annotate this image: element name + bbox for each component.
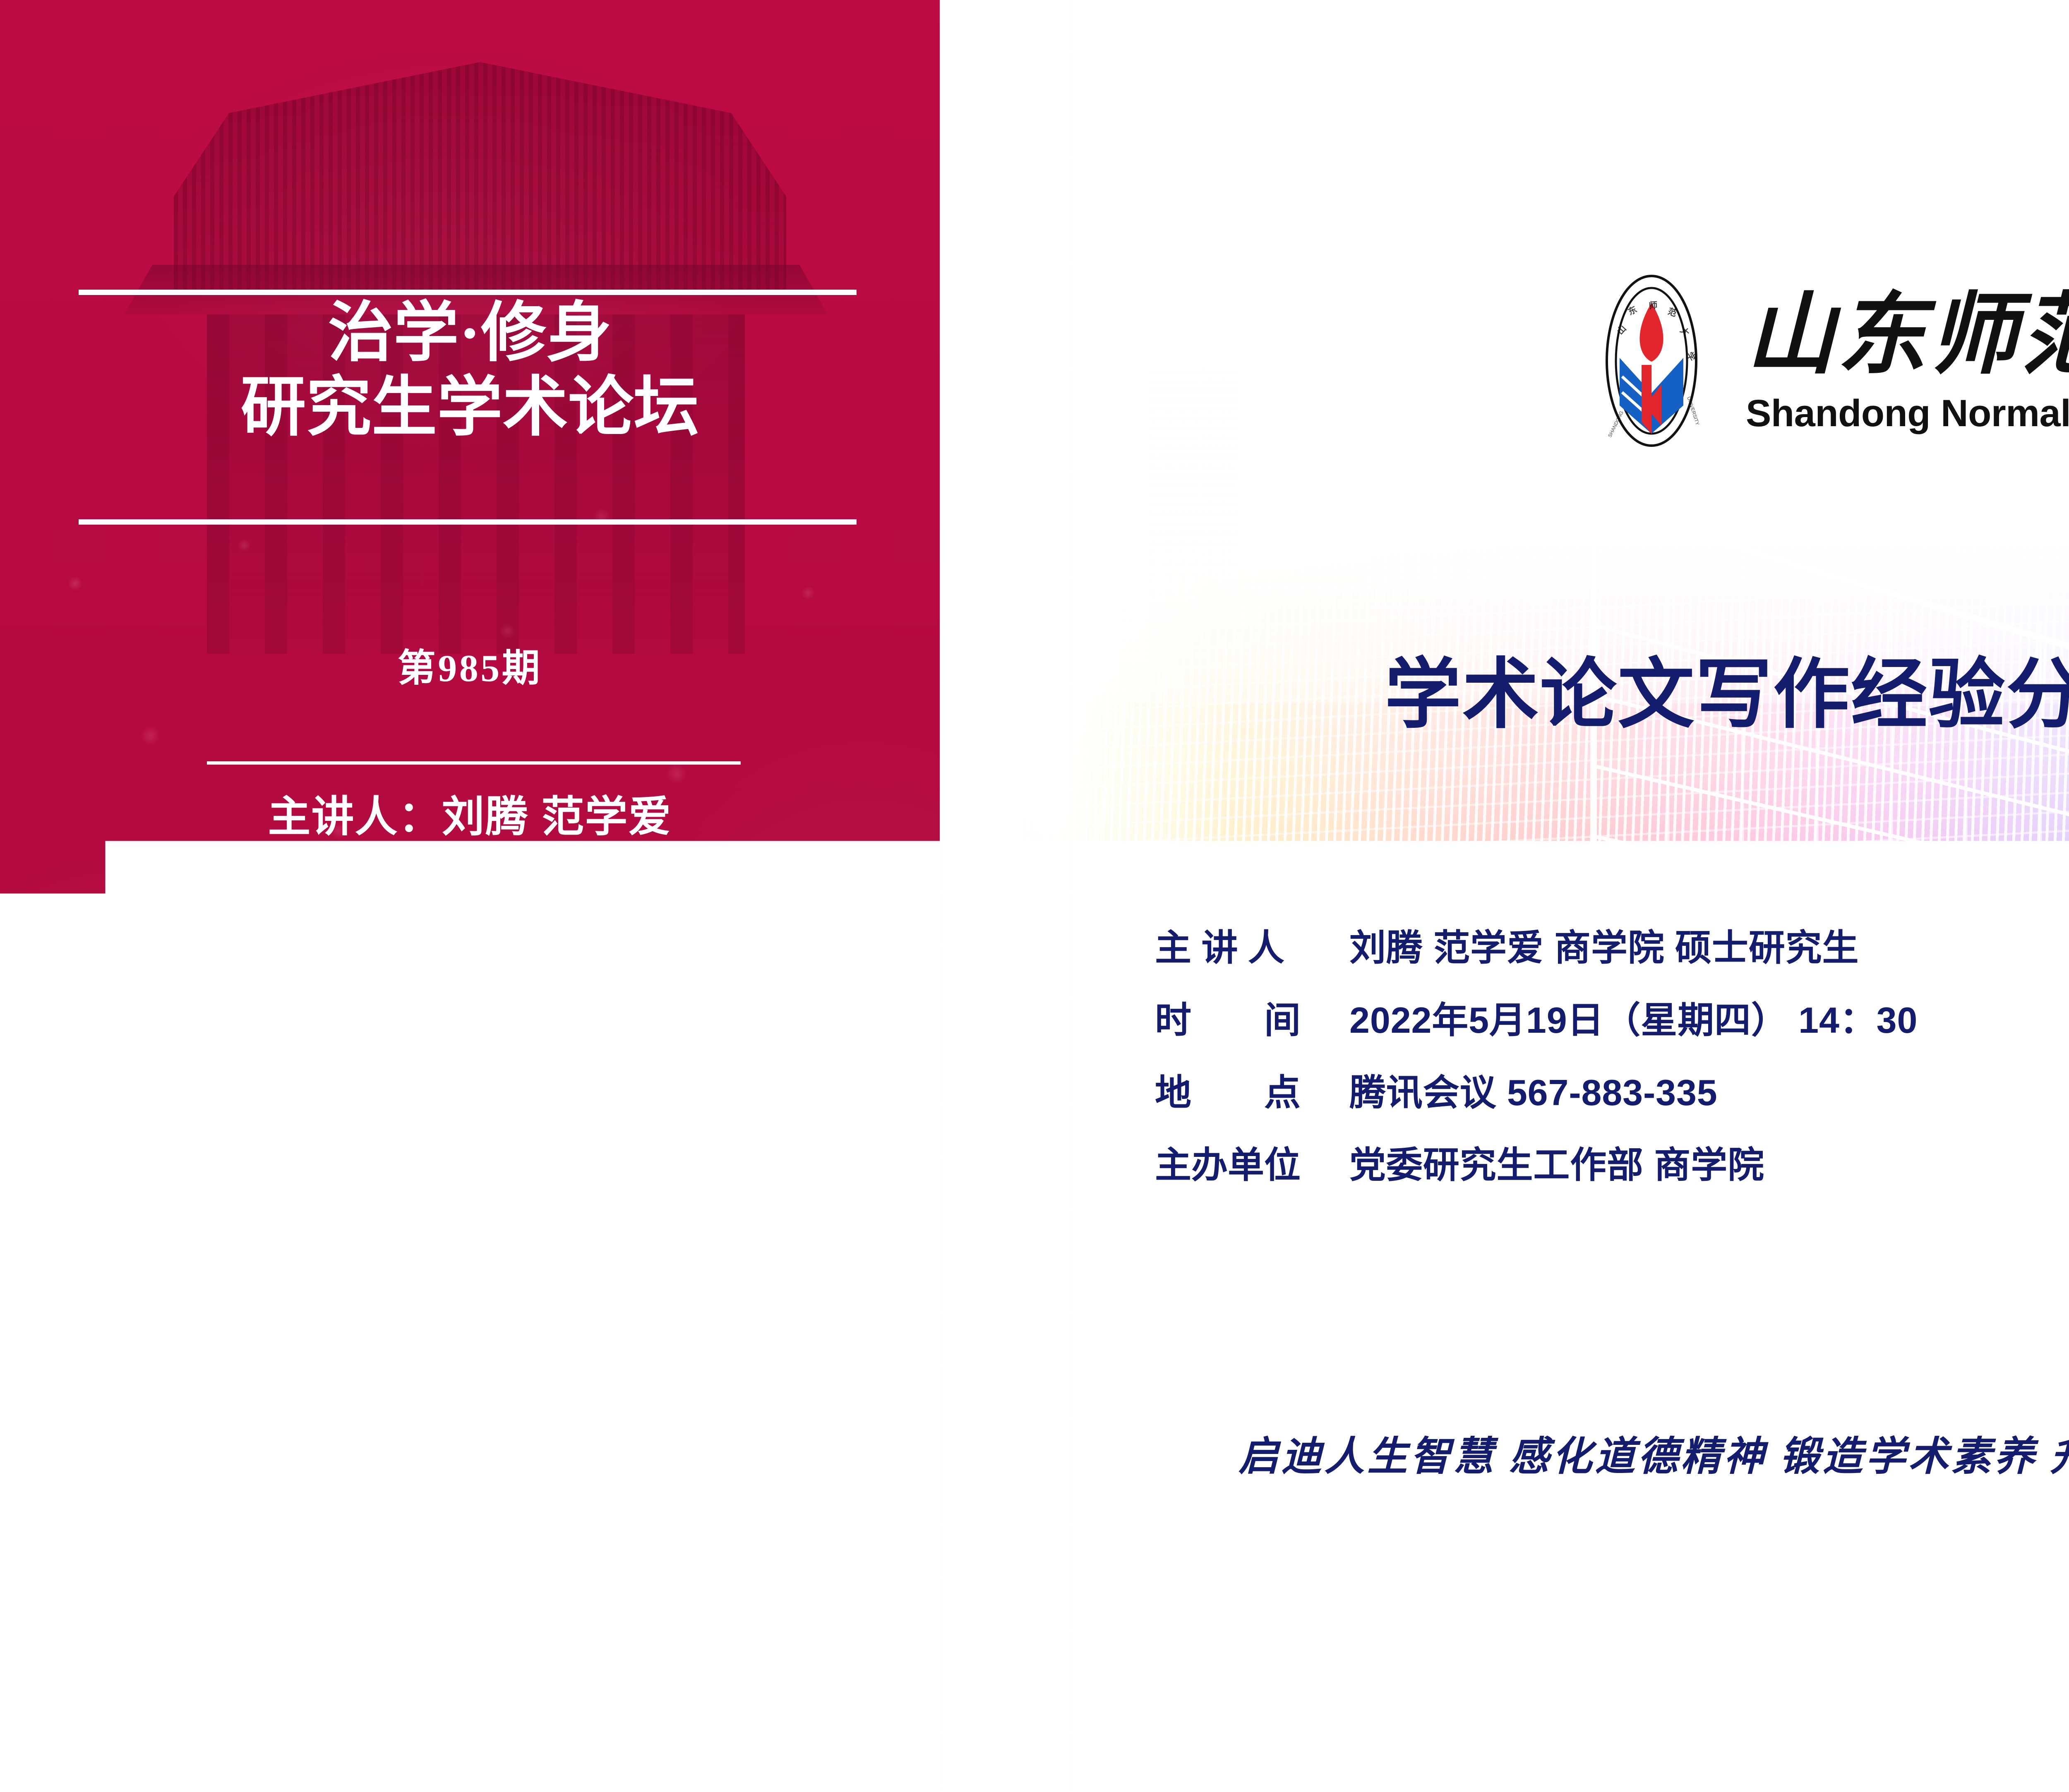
forum-title-line-1: 治学·修身 bbox=[0, 296, 940, 371]
info-label-organizer: 主办单位 bbox=[1155, 1136, 1349, 1188]
university-name-cn: 山东师范大学 bbox=[1746, 287, 2069, 390]
intro-paragraph-1: 刘腾，商学院硕士研究生，发表SSCI二区论文一篇。 bbox=[43, 964, 867, 1075]
title-rule-bottom bbox=[79, 519, 857, 525]
title-rule-top bbox=[79, 290, 857, 295]
intro-body: 刘腾，商学院硕士研究生，发表SSCI二区论文一篇。 范学爱，商学院硕士研究生，获… bbox=[43, 964, 867, 1241]
right-panel: SHANDONG UNIVERSITY 山 东 师 范 大 学 山东师范大学 bbox=[940, 0, 2069, 1792]
speaker-rule-bottom-notch bbox=[207, 850, 741, 890]
issue-number: 第985期 bbox=[0, 637, 940, 692]
svg-text:山东师范大学: 山东师范大学 bbox=[1746, 287, 2069, 385]
info-value-speaker: 刘腾 范学爱 商学院 硕士研究生 bbox=[1349, 919, 1859, 971]
left-panel: 治学·修身 研究生学术论坛 第985期 主讲人：刘腾 范学爱 简介 刘腾，商学院… bbox=[0, 0, 940, 1792]
info-value-location: 腾讯会议 567-883-335 bbox=[1349, 1063, 1718, 1116]
svg-text:师: 师 bbox=[1649, 300, 1658, 311]
forum-title: 治学·修身 研究生学术论坛 bbox=[0, 296, 940, 445]
speaker-rule-top bbox=[207, 761, 741, 765]
forum-title-line-2: 研究生学术论坛 bbox=[0, 371, 940, 445]
event-title: 学术论文写作经验分享 bbox=[940, 632, 2069, 743]
university-seal-icon: SHANDONG UNIVERSITY 山 东 师 范 大 学 bbox=[1580, 273, 1723, 449]
poster-root: 治学·修身 研究生学术论坛 第985期 主讲人：刘腾 范学爱 简介 刘腾，商学院… bbox=[0, 0, 2069, 1792]
info-row-time: 时 间 2022年5月19日（星期四） 14：30 bbox=[1155, 991, 2069, 1044]
university-logo-lockup: SHANDONG UNIVERSITY 山 东 师 范 大 学 山东师范大学 bbox=[1580, 273, 2069, 449]
bottom-slogan: 启迪人生智慧 感化道德精神 锻造学术素养 升华科学信仰 bbox=[940, 1423, 2069, 1482]
info-row-location: 地 点 腾讯会议 567-883-335 bbox=[1155, 1063, 2069, 1116]
info-label-speaker: 主 讲 人 bbox=[1155, 919, 1349, 971]
intro-paragraph-2: 范学爱，商学院硕士研究生，获优秀共青团员、研究生一等奖学金等荣誉，发表CSSCI… bbox=[43, 1075, 867, 1241]
info-label-time: 时 间 bbox=[1155, 991, 1349, 1044]
event-info-list: 主 讲 人 刘腾 范学爱 商学院 硕士研究生 时 间 2022年5月19日（星期… bbox=[1155, 919, 2069, 1208]
info-row-organizer: 主办单位 党委研究生工作部 商学院 bbox=[1155, 1136, 2069, 1188]
speaker-line: 主讲人：刘腾 范学爱 bbox=[0, 782, 940, 844]
info-label-location: 地 点 bbox=[1155, 1063, 1349, 1116]
info-value-organizer: 党委研究生工作部 商学院 bbox=[1349, 1136, 1764, 1188]
university-name-en: Shandong Normal University bbox=[1746, 392, 2069, 435]
info-row-speaker: 主 讲 人 刘腾 范学爱 商学院 硕士研究生 bbox=[1155, 919, 2069, 971]
university-name-block: 山东师范大学 Shandong Normal University bbox=[1746, 287, 2069, 435]
intro-heading: 简介 bbox=[43, 912, 118, 966]
info-value-time: 2022年5月19日（星期四） 14：30 bbox=[1349, 991, 1918, 1044]
